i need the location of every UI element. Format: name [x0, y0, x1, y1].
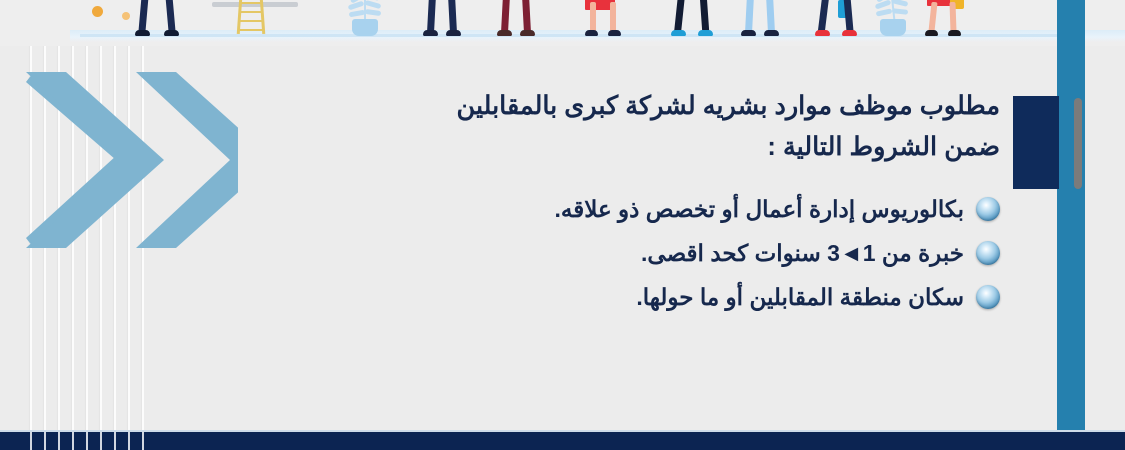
bullet-sphere-icon	[976, 285, 1000, 309]
page-title: مطلوب موظف موارد بشريه لشركة كبرى بالمقا…	[250, 86, 1010, 168]
bullet-sphere-icon	[976, 241, 1000, 265]
person-figure	[820, 0, 852, 36]
person-figure	[746, 0, 774, 36]
requirement-text: بكالوريوس إدارة أعمال أو تخصص ذو علاقه.	[555, 194, 965, 224]
person-figure	[930, 0, 956, 36]
person-figure	[428, 0, 456, 36]
decorative-dot-icon	[92, 6, 103, 17]
headline-line-2: ضمن الشروط التالية :	[250, 127, 1000, 168]
job-advert-poster: مطلوب موظف موارد بشريه لشركة كبرى بالمقا…	[0, 0, 1125, 450]
navy-bottom-band	[0, 432, 1125, 450]
navy-accent-block	[1013, 96, 1059, 189]
list-item: خبرة من 1◄3 سنوات كحد اقصى.	[250, 238, 1000, 268]
headline-line-1: مطلوب موظف موارد بشريه لشركة كبرى بالمقا…	[250, 86, 1000, 127]
potted-plant-icon	[352, 0, 378, 36]
person-figure	[502, 0, 530, 36]
person-figure	[590, 0, 616, 36]
double-chevron-right-icon	[18, 70, 238, 250]
bullet-sphere-icon	[976, 197, 1000, 221]
list-item: بكالوريوس إدارة أعمال أو تخصص ذو علاقه.	[250, 194, 1000, 224]
ladder-icon	[238, 0, 264, 34]
requirements-list: بكالوريوس إدارة أعمال أو تخصص ذو علاقه. …	[250, 194, 1010, 312]
teal-vertical-stripe	[1057, 0, 1085, 450]
person-figure	[140, 0, 174, 36]
office-people-illustration-strip	[0, 0, 1125, 46]
list-item: سكان منطقة المقابلين أو ما حولها.	[250, 282, 1000, 312]
person-figure	[676, 0, 708, 36]
advert-text-content: مطلوب موظف موارد بشريه لشركة كبرى بالمقا…	[250, 86, 1010, 326]
potted-plant-icon	[880, 0, 906, 36]
requirement-text: سكان منطقة المقابلين أو ما حولها.	[636, 282, 964, 312]
gray-accent-bar	[1074, 98, 1082, 189]
decorative-dot-icon	[122, 12, 130, 20]
requirement-text: خبرة من 1◄3 سنوات كحد اقصى.	[641, 238, 964, 268]
illustration-floor-line	[80, 34, 1065, 37]
